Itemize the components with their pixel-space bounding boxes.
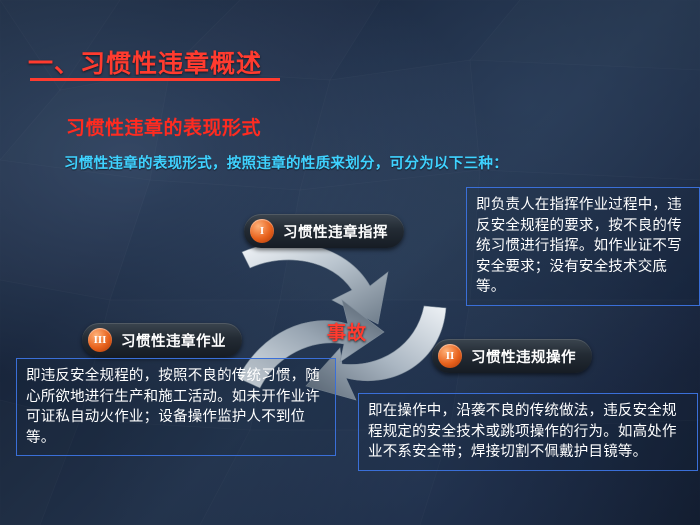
item-description-3: 即违反安全规程的，按照不良的传统习惯，随心所欲地进行生产和施工活动。如未开作业许… (16, 358, 336, 456)
item-label-2: 习惯性违规操作 (471, 346, 576, 367)
item-label-3: 习惯性违章作业 (121, 330, 226, 351)
title-underline-divider (30, 78, 280, 81)
lead-paragraph: 习惯性违章的表现形式，按照违章的性质来划分，可分为以下三种： (64, 152, 508, 173)
item-pill-1[interactable]: I 习惯性违章指挥 (244, 214, 404, 248)
item-pill-3[interactable]: III 习惯性违章作业 (82, 323, 242, 357)
item-badge-1: I (250, 219, 274, 243)
item-description-2: 即在操作中，沿袭不良的传统做法，违反安全规程规定的安全技术或跳项操作的行为。如高… (358, 393, 698, 471)
section-subtitle: 习惯性违章的表现形式 (66, 113, 261, 140)
center-label-accident: 事故 (312, 318, 382, 345)
slide-canvas: 一、习惯性违章概述 习惯性违章的表现形式 习惯性违章的表现形式，按照违章的性质来… (0, 0, 700, 525)
item-label-1: 习惯性违章指挥 (283, 221, 388, 242)
page-title: 一、习惯性违章概述 (28, 44, 262, 80)
item-pill-2[interactable]: II 习惯性违规操作 (432, 339, 592, 373)
item-description-1: 即负责人在指挥作业过程中，违反安全规程的要求，按不良的传统习惯进行指挥。如作业证… (466, 187, 700, 306)
item-badge-3: III (88, 328, 112, 352)
item-badge-2: II (438, 344, 462, 368)
